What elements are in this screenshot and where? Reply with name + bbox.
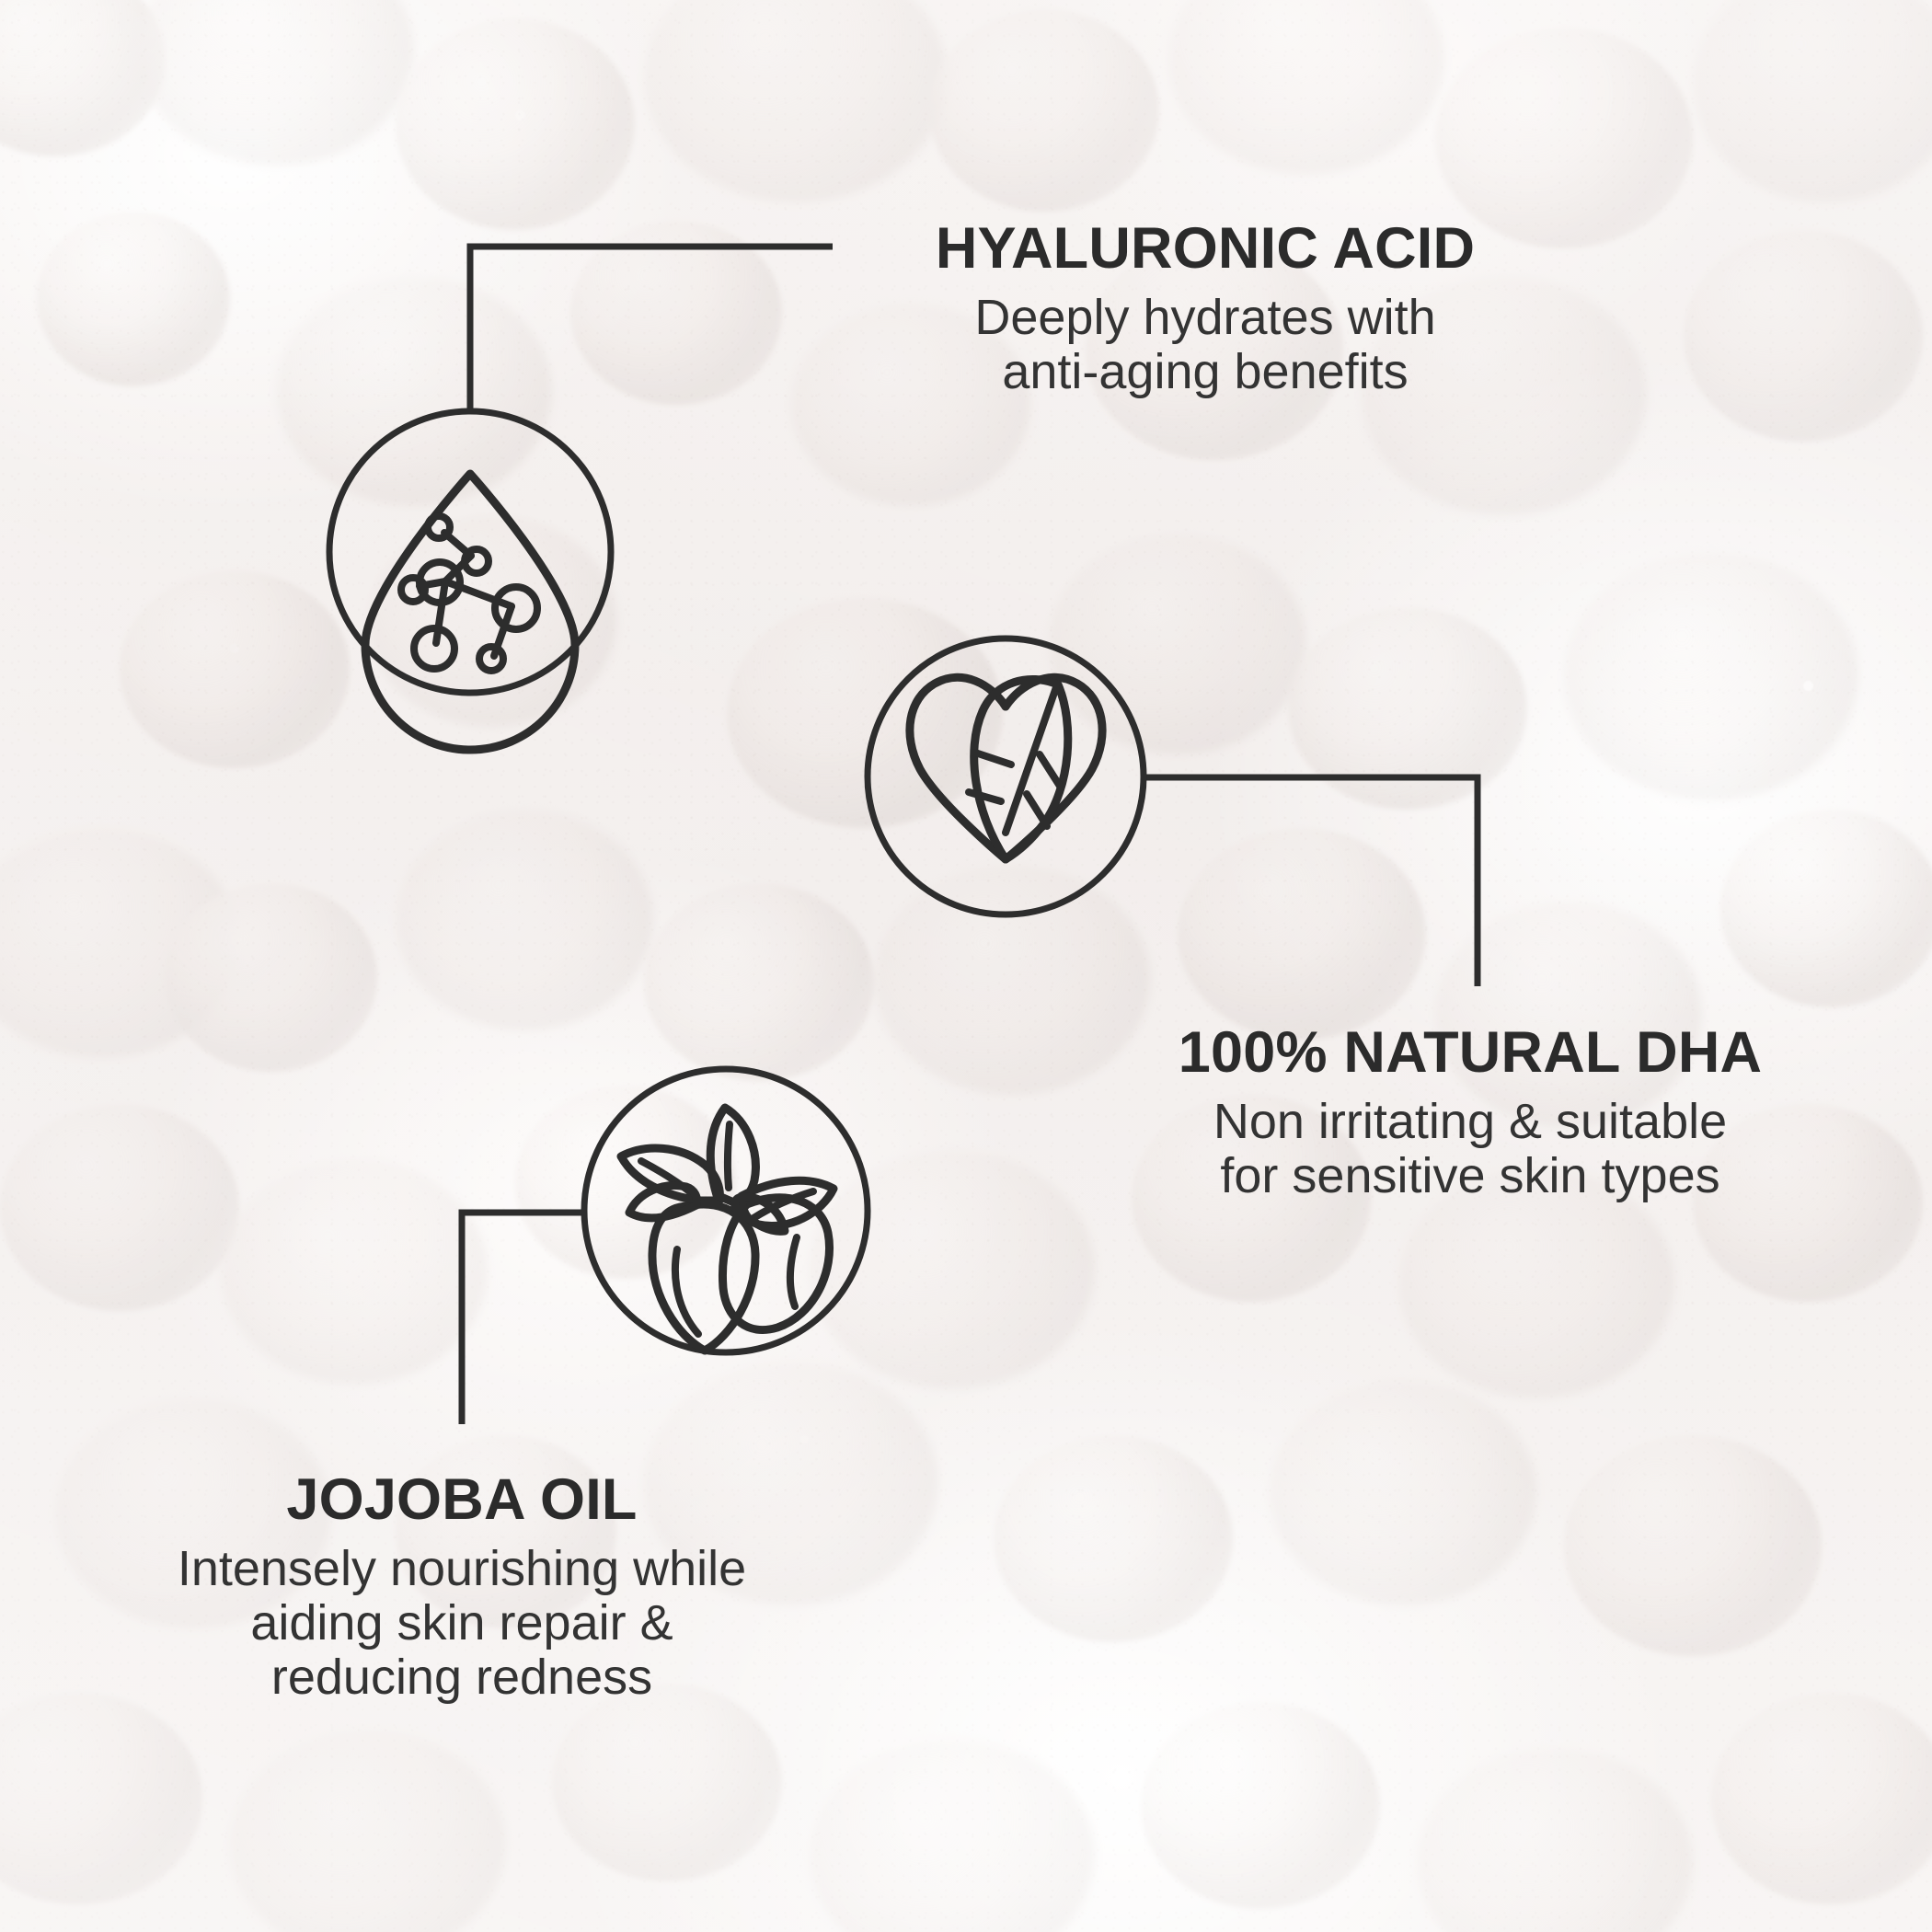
connector-hyaluronic xyxy=(470,247,833,412)
connector-dha xyxy=(1144,777,1478,986)
callout-hyaluronic-description-line-2: anti-aging benefits xyxy=(856,345,1555,399)
callout-jojoba-description-line-3: reducing redness xyxy=(112,1650,811,1705)
callout-jojoba-description: Intensely nourishing while aiding skin r… xyxy=(112,1542,811,1706)
connector-jojoba xyxy=(462,1213,585,1424)
callout-hyaluronic-description: Deeply hydrates with anti-aging benefits xyxy=(856,291,1555,400)
callout-dha-description-line-2: for sensitive skin types xyxy=(1121,1149,1820,1203)
jojoba-nut-icon xyxy=(621,1108,834,1351)
callout-jojoba-description-line-1: Intensely nourishing while xyxy=(112,1542,811,1596)
callout-dha-description-line-1: Non irritating & suitable xyxy=(1121,1095,1820,1149)
callout-natural-dha: 100% NATURAL DHA Non irritating & suitab… xyxy=(1121,1023,1820,1203)
callout-dha-headline: 100% NATURAL DHA xyxy=(1121,1023,1820,1084)
callout-hyaluronic-description-line-1: Deeply hydrates with xyxy=(856,291,1555,345)
callout-hyaluronic-headline: HYALURONIC ACID xyxy=(856,219,1555,280)
callout-jojoba-oil: JOJOBA OIL Intensely nourishing while ai… xyxy=(112,1470,811,1706)
heart-leaf-icon xyxy=(910,677,1102,859)
callout-jojoba-headline: JOJOBA OIL xyxy=(112,1470,811,1531)
icon-badge-dha xyxy=(868,638,1144,914)
callout-dha-description: Non irritating & suitable for sensitive … xyxy=(1121,1095,1820,1204)
callout-jojoba-description-line-2: aiding skin repair & xyxy=(112,1596,811,1650)
callout-hyaluronic-acid: HYALURONIC ACID Deeply hydrates with ant… xyxy=(856,219,1555,399)
water-drop-molecule-icon xyxy=(365,474,575,750)
ingredient-benefits-infographic: HYALURONIC ACID Deeply hydrates with ant… xyxy=(0,0,1932,1932)
